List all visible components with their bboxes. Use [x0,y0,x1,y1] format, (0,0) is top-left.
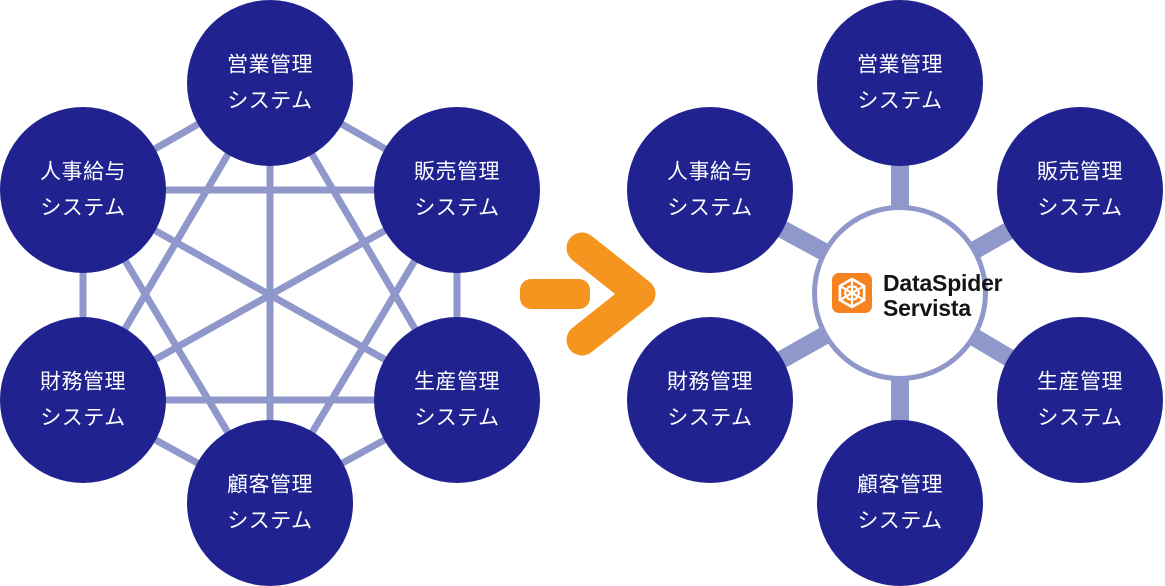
node-label-line2: システム [857,90,942,113]
node-circle [187,0,353,166]
system-node-sales-mgmt: 営業管理システム [817,0,983,166]
node-circle [997,317,1163,483]
node-label-line1: 顧客管理 [857,474,943,497]
arrow-shaft [520,279,590,309]
system-node-hr-payroll: 人事給与システム [627,107,793,273]
node-label-line1: 生産管理 [414,371,500,394]
node-circle [374,107,540,273]
node-label-line2: システム [40,407,125,430]
logo-wordmark-line2: Servista [883,295,971,321]
node-circle [0,317,166,483]
diagram-canvas: 営業管理システム販売管理システム生産管理システム顧客管理システム財務管理システム… [0,0,1165,586]
system-node-hr-payroll: 人事給与システム [0,107,166,273]
node-label-line1: 人事給与 [40,161,126,184]
node-label-line2: システム [1037,197,1122,220]
node-circle [627,317,793,483]
node-circle [817,420,983,586]
node-label-line1: 販売管理 [414,161,500,184]
node-circle [997,107,1163,273]
node-circle [0,107,166,273]
node-label-line2: システム [414,197,499,220]
system-node-customer-mgmt: 顧客管理システム [817,420,983,586]
node-label-line2: システム [667,197,752,220]
node-label-line1: 生産管理 [1037,371,1123,394]
system-node-customer-mgmt: 顧客管理システム [187,420,353,586]
node-circle [817,0,983,166]
node-label-line2: システム [857,510,942,533]
node-label-line1: 人事給与 [667,161,753,184]
node-label-line2: システム [667,407,752,430]
node-label-line2: システム [414,407,499,430]
system-node-distribution: 販売管理システム [374,107,540,273]
node-label-line1: 財務管理 [40,371,126,394]
system-integration-diagram: 営業管理システム販売管理システム生産管理システム顧客管理システム財務管理システム… [0,0,1165,586]
node-label-line2: システム [227,510,312,533]
node-label-line1: 販売管理 [1037,161,1123,184]
node-label-line2: システム [227,90,312,113]
logo-wordmark-line1: DataSpider [883,270,1003,296]
system-node-distribution: 販売管理システム [997,107,1163,273]
node-circle [627,107,793,273]
system-node-sales-mgmt: 営業管理システム [187,0,353,166]
system-node-production: 生産管理システム [374,317,540,483]
dataspider-hub: DataSpiderServista [815,208,1003,379]
node-circle [187,420,353,586]
node-label-line1: 顧客管理 [227,474,313,497]
dataspider-hexagon-icon [832,273,872,313]
node-label-line1: 営業管理 [857,54,943,77]
node-label-line2: システム [40,197,125,220]
node-label-line2: システム [1037,407,1122,430]
system-node-finance: 財務管理システム [0,317,166,483]
node-label-line1: 営業管理 [227,54,313,77]
node-circle [374,317,540,483]
system-node-production: 生産管理システム [997,317,1163,483]
system-node-finance: 財務管理システム [627,317,793,483]
transformation-arrow [520,248,640,340]
arrow-head [582,248,640,340]
node-label-line1: 財務管理 [667,371,753,394]
